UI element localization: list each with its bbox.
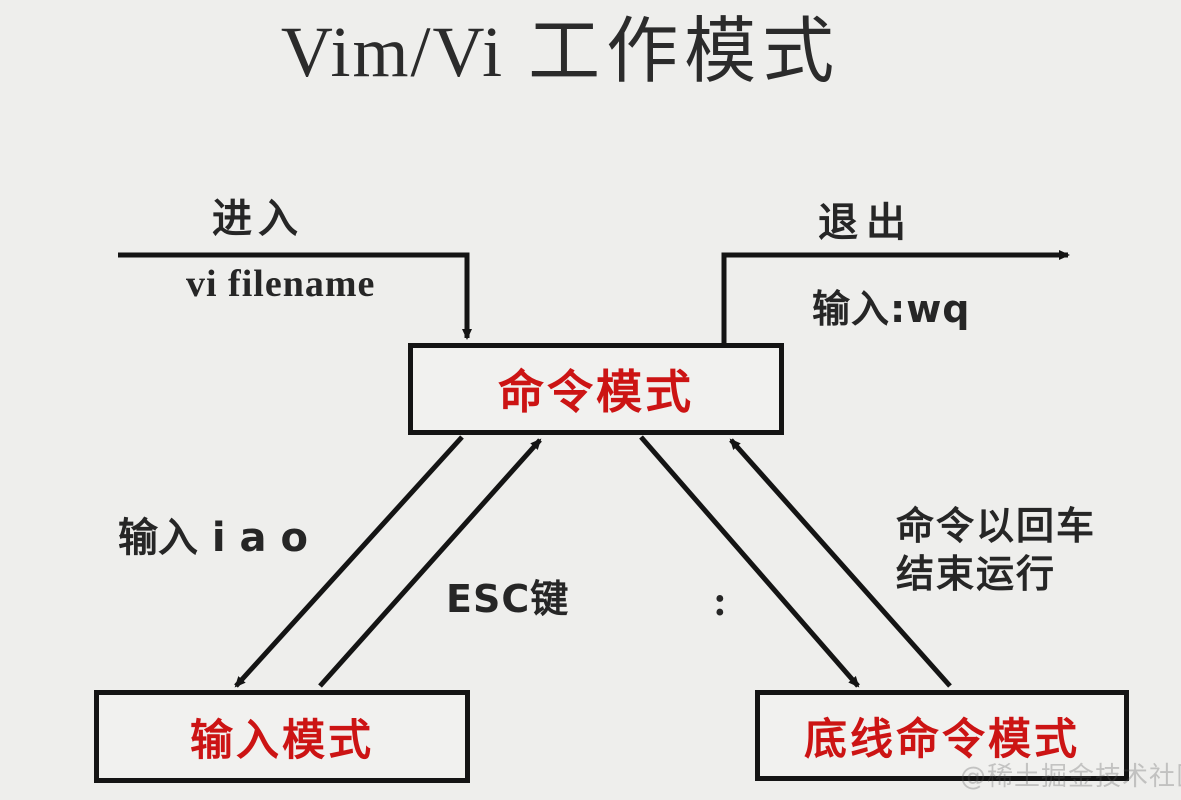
label-input-iao: 输入 i a o: [118, 505, 308, 563]
label-enter: 进入: [212, 186, 304, 244]
edge-command-to-lastline: [641, 437, 858, 686]
label-esc-key: ESC键: [446, 568, 569, 623]
label-enter-key-line1: 命令以回车: [896, 502, 1096, 550]
node-command-mode[interactable]: 命令模式: [408, 343, 784, 435]
page-title-cjk: 工作模式: [504, 12, 840, 92]
label-vi-filename: vi filename: [186, 262, 375, 306]
page-title: Vim/Vi 工作模式: [0, 6, 1181, 98]
label-enter-key-line2: 结束运行: [896, 550, 1096, 598]
watermark: @稀土掘金技术社区: [960, 756, 1181, 793]
node-insert-mode[interactable]: 输入模式: [94, 690, 470, 783]
label-colon: :: [713, 578, 727, 626]
diagram-canvas: Vim/Vi 工作模式 进入 vi filename 退出 输入:wq 输入 i…: [0, 0, 1181, 800]
edge-insert-to-command: [320, 440, 540, 686]
label-write-quit: 输入:wq: [812, 278, 971, 333]
page-title-latin: Vim/Vi: [281, 12, 504, 92]
label-exit: 退出: [818, 190, 914, 248]
label-enter-key-runs: 命令以回车 结束运行: [896, 502, 1096, 598]
